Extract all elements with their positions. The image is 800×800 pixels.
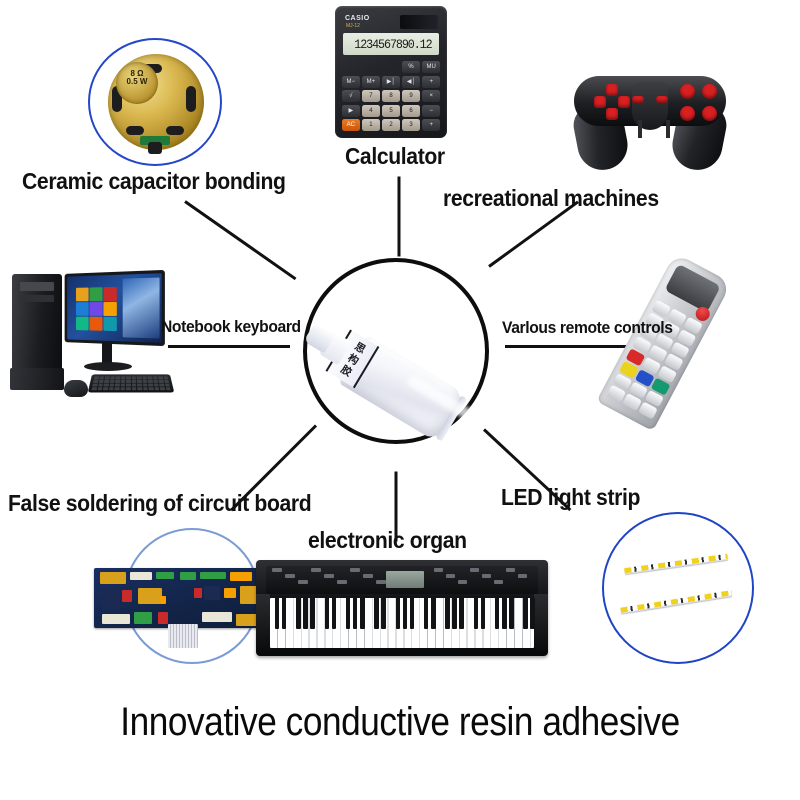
- start-menu-tiles: [76, 287, 117, 331]
- organ-panel-marking: [363, 574, 373, 578]
- pcb-component: [194, 588, 202, 598]
- keyboard-key: [99, 380, 104, 383]
- pcb-component: [100, 572, 126, 584]
- label-notebook-keyboard: Notebook keyboard: [161, 317, 301, 337]
- calculator-keypad[interactable]: %MUM−M+▶│◀│+√789×▶456−AC123+: [342, 61, 440, 131]
- calculator-key-[interactable]: %: [402, 61, 420, 73]
- keyboard-key: [142, 376, 147, 379]
- keyboard-key: [103, 387, 108, 390]
- organ-side-right: [534, 594, 548, 650]
- calculator-key-[interactable]: √: [342, 90, 360, 102]
- pcb-component: [224, 588, 236, 598]
- monitor-base: [84, 362, 132, 371]
- organ-panel-marking: [482, 574, 491, 578]
- keyboard-key: [94, 376, 99, 379]
- calculator-key-MU[interactable]: MU: [422, 61, 440, 73]
- speaker-terminal: [148, 142, 162, 154]
- label-remote-controls: Varlous remote controls: [502, 318, 673, 338]
- pcb-component: [138, 588, 162, 604]
- keyboard-key: [154, 383, 159, 386]
- keyboard-key: [148, 380, 153, 383]
- organ-black-key: [530, 598, 535, 629]
- organ-panel-marking: [470, 568, 479, 572]
- pcb-component: [202, 612, 232, 622]
- action-button-y: [680, 84, 695, 99]
- organ-panel-marking: [494, 580, 503, 584]
- solar-panel: [400, 15, 438, 29]
- computer-keyboard: [88, 374, 174, 392]
- organ-panel-marking: [446, 574, 455, 578]
- desktop-tile: [90, 287, 103, 301]
- organ-panel-marking: [458, 580, 467, 584]
- pcb-component: [122, 590, 132, 602]
- action-button-b: [702, 84, 717, 99]
- dpad-up-button: [606, 84, 618, 96]
- organ-black-key: [523, 598, 528, 629]
- organ-black-key: [303, 598, 308, 629]
- keyboard-key: [120, 383, 125, 386]
- pcb-component: [156, 572, 174, 579]
- tube-graphic: 思 构 胶: [302, 312, 470, 446]
- organ-black-key: [403, 598, 408, 629]
- desktop-computer-photo: [2, 258, 172, 410]
- keyboard-key: [158, 376, 163, 379]
- remote-rotated-group: [596, 253, 731, 431]
- keyboard-key: [131, 376, 135, 379]
- pcb-component: [230, 572, 252, 581]
- calculator-key-4[interactable]: 4: [362, 105, 380, 117]
- organ-panel-marking: [337, 580, 347, 584]
- calculator-brand: CASIO: [345, 15, 370, 22]
- gold-speaker-photo: 8 Ω 0.5 W: [88, 38, 222, 166]
- calculator-key-2[interactable]: 2: [382, 119, 400, 131]
- calculator-key-6[interactable]: 6: [402, 105, 420, 117]
- keyboard-key: [153, 380, 158, 383]
- desktop-tile: [76, 302, 88, 315]
- calculator-sub-brand: MJ-12: [346, 23, 360, 29]
- organ-black-key: [282, 598, 287, 629]
- led-ring-outline: [602, 512, 754, 664]
- connector-notebook-keyboard: [168, 345, 290, 348]
- organ-display: [386, 571, 424, 588]
- calculator-key-3[interactable]: 3: [402, 119, 420, 131]
- calculator-key-[interactable]: +: [422, 119, 440, 131]
- keyboard-key: [97, 387, 102, 390]
- keyboard-key: [92, 383, 97, 386]
- keyboard-key: [114, 387, 119, 390]
- speaker-vent: [186, 86, 196, 112]
- keyboard-key: [137, 380, 142, 383]
- front-panel-vent: [20, 295, 54, 302]
- keyboard-key: [132, 383, 137, 386]
- pcb-component: [102, 588, 120, 610]
- desktop-tile: [76, 317, 88, 330]
- keyboard-key: [109, 383, 114, 386]
- organ-panel-marking: [285, 574, 295, 578]
- desktop-tile: [90, 317, 103, 331]
- calculator-key-[interactable]: −: [422, 105, 440, 117]
- organ-black-key: [410, 598, 415, 629]
- infographic-canvas: 思 构 胶 8 Ω 0.5 W CASIO MJ-12 1234567890.1…: [0, 0, 800, 800]
- connector-calculator: [398, 177, 401, 257]
- organ-panel-marking: [350, 568, 360, 572]
- keyboard-key: [98, 383, 103, 386]
- pcb-component: [236, 614, 258, 626]
- connector-remote-controls: [505, 345, 627, 348]
- page-title: Innovative conductive resin adhesive: [48, 700, 752, 745]
- desktop-wallpaper: [123, 277, 160, 338]
- keyboard-key: [110, 380, 115, 383]
- keyboard-key: [143, 383, 148, 386]
- casio-calculator-photo: CASIO MJ-12 1234567890.12 %MUM−M+▶│◀│+√7…: [335, 6, 447, 138]
- organ-black-key: [296, 598, 301, 629]
- adhesive-tube-photo: 思 构 胶: [303, 258, 489, 444]
- calculator-key-8[interactable]: 8: [382, 90, 400, 102]
- organ-black-key: [431, 598, 436, 629]
- organ-black-key: [332, 598, 337, 629]
- organ-black-key: [459, 598, 464, 629]
- keyboard-key: [163, 376, 168, 379]
- keyboard-key: [148, 383, 153, 386]
- keyboard-key: [137, 383, 142, 386]
- organ-black-key: [381, 598, 386, 629]
- led-light-strip-photo: [602, 512, 758, 664]
- organ-black-key: [481, 598, 486, 629]
- calculator-key-9[interactable]: 9: [402, 90, 420, 102]
- keyboard-key: [109, 387, 114, 390]
- dpad-down-button: [606, 108, 618, 120]
- calculator-key-blank: [362, 61, 380, 73]
- desktop-tile: [90, 302, 103, 316]
- keyboard-key: [115, 383, 120, 386]
- label-calculator: Calculator: [345, 143, 445, 170]
- pc-tower-base: [10, 368, 64, 390]
- organ-black-key: [374, 598, 379, 629]
- calculator-key-[interactable]: +: [422, 76, 440, 88]
- calculator-key-blank: [342, 61, 360, 73]
- calculator-key-7[interactable]: 7: [362, 90, 380, 102]
- calculator-display: 1234567890.12: [343, 33, 439, 55]
- desktop-tile: [104, 302, 117, 316]
- optical-drive-bay: [20, 282, 54, 291]
- calculator-key-M[interactable]: M+: [362, 76, 380, 88]
- organ-black-key: [346, 598, 351, 629]
- keyboard-key: [164, 380, 169, 383]
- keyboard-key: [143, 387, 148, 390]
- action-button-a: [702, 106, 717, 121]
- keyboard-key: [103, 383, 108, 386]
- organ-black-key: [445, 598, 450, 629]
- calculator-key-5[interactable]: 5: [382, 105, 400, 117]
- organ-black-key: [325, 598, 330, 629]
- speaker-vent: [126, 126, 144, 135]
- keyboard-key: [93, 380, 98, 383]
- keyboard-key: [154, 387, 159, 390]
- calculator-key-[interactable]: ◀│: [402, 76, 420, 88]
- organ-panel-marking: [506, 568, 515, 572]
- keyboard-key: [165, 387, 170, 390]
- desktop-tile: [104, 317, 117, 331]
- desktop-tile: [104, 287, 117, 301]
- game-controller-photo: [556, 52, 744, 174]
- keyboard-key: [147, 376, 152, 379]
- keyboard-key: [142, 380, 147, 383]
- label-ceramic-capacitor-bonding: Ceramic capacitor bonding: [22, 168, 286, 195]
- keyboard-key: [115, 380, 120, 383]
- keyboard-key: [131, 380, 135, 383]
- label-electronic-organ: electronic organ: [308, 527, 467, 554]
- organ-panel-marking: [272, 568, 282, 572]
- calculator-key-1[interactable]: 1: [362, 119, 380, 131]
- organ-panel-marking: [311, 568, 321, 572]
- organ-panel-marking: [434, 568, 443, 572]
- controller-v-accent: [638, 120, 670, 138]
- dpad-left-button: [594, 96, 606, 108]
- keyboard-key: [137, 376, 141, 379]
- keyboard-key: [159, 383, 164, 386]
- pcb-component: [102, 614, 130, 624]
- keyboard-key: [126, 383, 131, 386]
- pcb-component: [158, 612, 168, 624]
- organ-black-key: [474, 598, 479, 629]
- organ-black-key: [353, 598, 358, 629]
- keyboard-key: [91, 387, 96, 390]
- label-led-light-strip: LED light strip: [501, 484, 640, 511]
- organ-black-key: [424, 598, 429, 629]
- computer-mouse: [64, 380, 88, 397]
- organ-black-key: [495, 598, 500, 629]
- organ-black-key: [452, 598, 457, 629]
- calculator-key-[interactable]: ▶│: [382, 76, 400, 88]
- keyboard-key: [120, 387, 125, 390]
- organ-black-key: [509, 598, 514, 629]
- label-false-soldering-circuit-board: False soldering of circuit board: [8, 490, 311, 517]
- pcb-component: [130, 572, 152, 580]
- label-recreational-machines: recreational machines: [443, 185, 659, 212]
- electronic-keyboard-photo: [256, 560, 548, 664]
- pcb-component: [160, 596, 166, 604]
- pcb-component: [134, 612, 152, 624]
- keyboard-key: [165, 383, 170, 386]
- keyboard-key: [126, 376, 130, 379]
- keyboard-key: [126, 387, 131, 390]
- calculator-key-blank: [382, 61, 400, 73]
- speaker-power: 0.5 W: [118, 78, 156, 86]
- keyboard-key: [121, 380, 126, 383]
- keyboard-key: [110, 376, 115, 379]
- organ-black-key: [310, 598, 315, 629]
- keyboard-key: [137, 387, 142, 390]
- organ-side-left: [256, 594, 270, 650]
- organ-panel-marking: [376, 580, 386, 584]
- organ-black-key: [502, 598, 507, 629]
- start-button: [656, 96, 668, 103]
- keyboard-key: [99, 376, 104, 379]
- pcb-white-connector: [168, 624, 198, 648]
- select-button: [632, 96, 644, 103]
- calculator-display-value: 1234567890.12: [354, 37, 431, 52]
- keyboard-key: [104, 380, 109, 383]
- keyboard-key: [105, 376, 110, 379]
- calculator-key-AC[interactable]: AC: [342, 119, 360, 131]
- keyboard-key: [148, 387, 153, 390]
- speaker-vent: [166, 126, 184, 135]
- keyboard-key: [115, 376, 120, 379]
- dpad-right-button: [618, 96, 630, 108]
- keyboard-keys: [91, 376, 170, 390]
- keyboard-key: [126, 380, 130, 383]
- calculator-key-[interactable]: ▶: [342, 105, 360, 117]
- desktop-tile: [76, 288, 88, 301]
- monitor-screen: [67, 273, 161, 343]
- organ-panel-marking: [518, 574, 527, 578]
- organ-panel-marking: [324, 574, 334, 578]
- pcb-component: [180, 572, 196, 580]
- speaker-spec: 8 Ω 0.5 W: [118, 70, 156, 86]
- connector-ceramic-capacitor: [184, 200, 296, 280]
- pcb-component: [204, 586, 220, 600]
- keyboard-key: [153, 376, 158, 379]
- action-button-x: [680, 106, 695, 121]
- keyboard-key: [160, 387, 165, 390]
- keyboard-key: [121, 376, 125, 379]
- keyboard-key: [132, 387, 137, 390]
- organ-black-key: [396, 598, 401, 629]
- keyboard-key: [158, 380, 163, 383]
- calculator-key-M[interactable]: M−: [342, 76, 360, 88]
- organ-black-key: [275, 598, 280, 629]
- monitor-stand: [102, 342, 112, 364]
- pcb-component: [200, 572, 226, 579]
- calculator-key-[interactable]: ×: [422, 90, 440, 102]
- organ-black-key: [360, 598, 365, 629]
- organ-panel-marking: [298, 580, 308, 584]
